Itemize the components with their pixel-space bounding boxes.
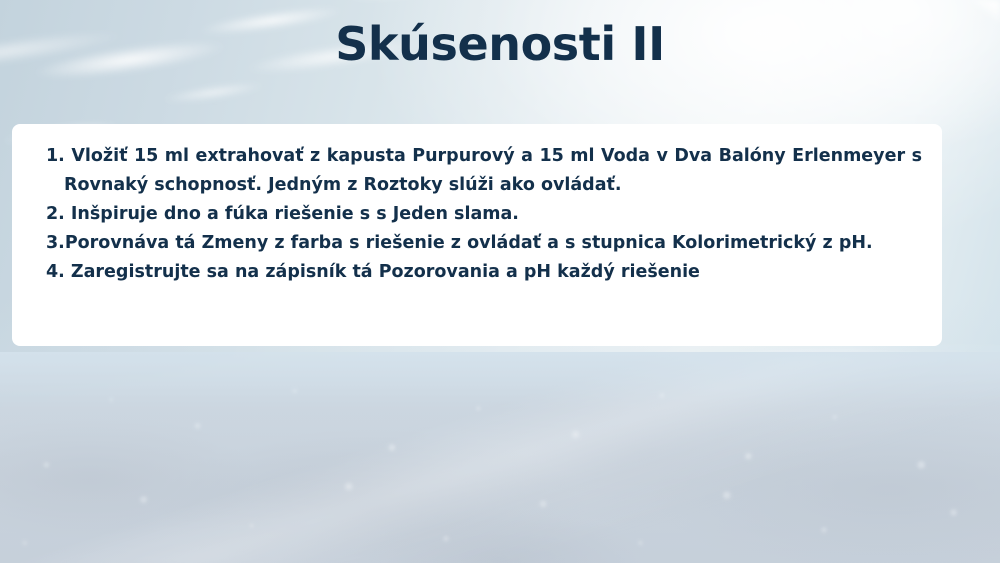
slide: Skúsenosti II 1. Vložiť 15 ml extrahovať… xyxy=(0,0,1000,563)
list-item-text: Vložiť 15 ml extrahovať z kapusta Purpur… xyxy=(64,146,922,195)
list-item: 3.Porovnáva tá Zmeny z farba s riešenie … xyxy=(46,229,922,258)
slide-title: Skúsenosti II xyxy=(0,18,1000,71)
coral-ridge-highlight xyxy=(0,352,1000,563)
list-item-marker: 3. xyxy=(46,233,65,253)
content-card: 1. Vložiť 15 ml extrahovať z kapusta Pur… xyxy=(12,124,942,346)
list-item-text: Inšpiruje dno a fúka riešenie s s Jeden … xyxy=(71,204,519,224)
coral-reef xyxy=(0,352,1000,563)
coral-haze-overlay xyxy=(0,352,1000,563)
list-item-marker: 2. xyxy=(46,204,65,224)
list-item-marker: 4. xyxy=(46,262,65,282)
list-item: 2. Inšpiruje dno a fúka riešenie s s Jed… xyxy=(46,200,922,229)
list-item-marker: 1. xyxy=(46,146,65,166)
list-item-text: Porovnáva tá Zmeny z farba s riešenie z … xyxy=(65,233,873,253)
list-item: 4. Zaregistrujte sa na zápisník tá Pozor… xyxy=(46,258,922,287)
list-item-text: Zaregistrujte sa na zápisník tá Pozorova… xyxy=(71,262,700,282)
coral-texture-speckle xyxy=(0,352,1000,563)
list-item: 1. Vložiť 15 ml extrahovať z kapusta Pur… xyxy=(46,142,922,200)
instruction-list: 1. Vložiť 15 ml extrahovať z kapusta Pur… xyxy=(46,142,922,287)
